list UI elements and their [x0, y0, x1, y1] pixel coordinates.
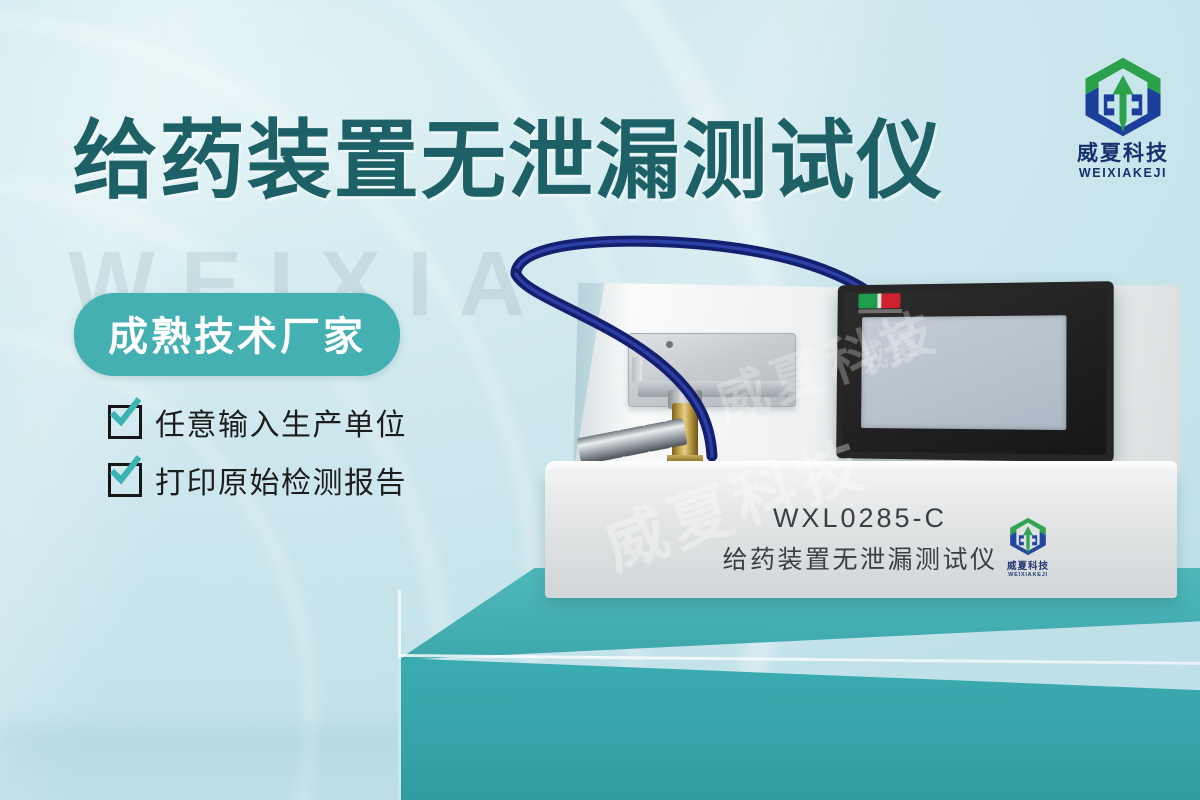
device-logo-name-en: WEIXIAKEJI [988, 572, 1068, 578]
device-label-logo: 威夏科技 WEIXIAKEJI [988, 517, 1068, 578]
product-poster: WEIXIA 给药装置无泄漏测试仪 成熟技术厂家 任意输入生产单位 打印原始检测… [0, 0, 1200, 800]
brand-logo: 威夏科技 WEIXIAKEJI [1063, 56, 1183, 180]
screen-watermark: 威夏 [861, 315, 931, 384]
checkbox-checked-icon [108, 463, 142, 497]
device-logo-name-cn: 威夏科技 [988, 558, 1068, 572]
brand-name-cn: 威夏科技 [1063, 142, 1183, 165]
hmi-screen[interactable]: 威夏 [861, 315, 1066, 430]
product-device: 威夏 威夏科技 威夏科技 WXL0285-C 给药装置无泄漏测试仪 威夏科技 W… [520, 265, 1180, 605]
weixia-hexagon-logo-icon [1079, 56, 1167, 138]
hmi-touch-panel[interactable]: 威夏 [836, 281, 1114, 462]
list-item-label: 打印原始检测报告 [155, 458, 407, 502]
list-item: 打印原始检测报告 [108, 458, 407, 502]
brand-name-en: WEIXIAKEJI [1063, 166, 1183, 180]
page-title: 给药装置无泄漏测试仪 [72, 118, 943, 204]
dwin-logo-icon [858, 293, 900, 308]
list-item-label: 任意输入生产单位 [155, 400, 407, 444]
checkbox-checked-icon [108, 405, 142, 439]
feature-list: 任意输入生产单位 打印原始检测报告 [108, 400, 407, 516]
tagline-badge: 成熟技术厂家 [74, 293, 400, 376]
weixia-hexagon-logo-icon [1007, 517, 1049, 556]
list-item: 任意输入生产单位 [108, 400, 407, 444]
